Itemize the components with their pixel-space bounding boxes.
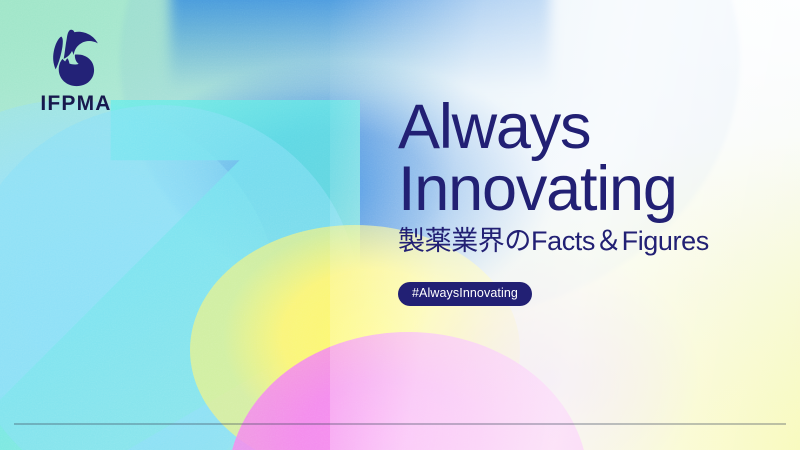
hashtag-badge[interactable]: #AlwaysInnovating: [398, 282, 532, 306]
title-block: Always Innovating 製薬業界のFacts＆Figures #Al…: [398, 96, 778, 306]
page-title-line-1: Always: [398, 92, 590, 162]
ifpma-flower-logo-icon: [42, 26, 104, 88]
brand-wordmark: IFPMA: [28, 92, 124, 116]
page-title: Always Innovating: [398, 96, 778, 221]
page-subtitle: 製薬業界のFacts＆Figures: [398, 227, 778, 257]
page-title-line-2: Innovating: [398, 154, 677, 224]
brand-logo[interactable]: IFPMA: [28, 26, 124, 116]
title-slide: IFPMA Always Innovating 製薬業界のFacts＆Figur…: [0, 0, 800, 450]
footer-divider: [14, 423, 786, 425]
